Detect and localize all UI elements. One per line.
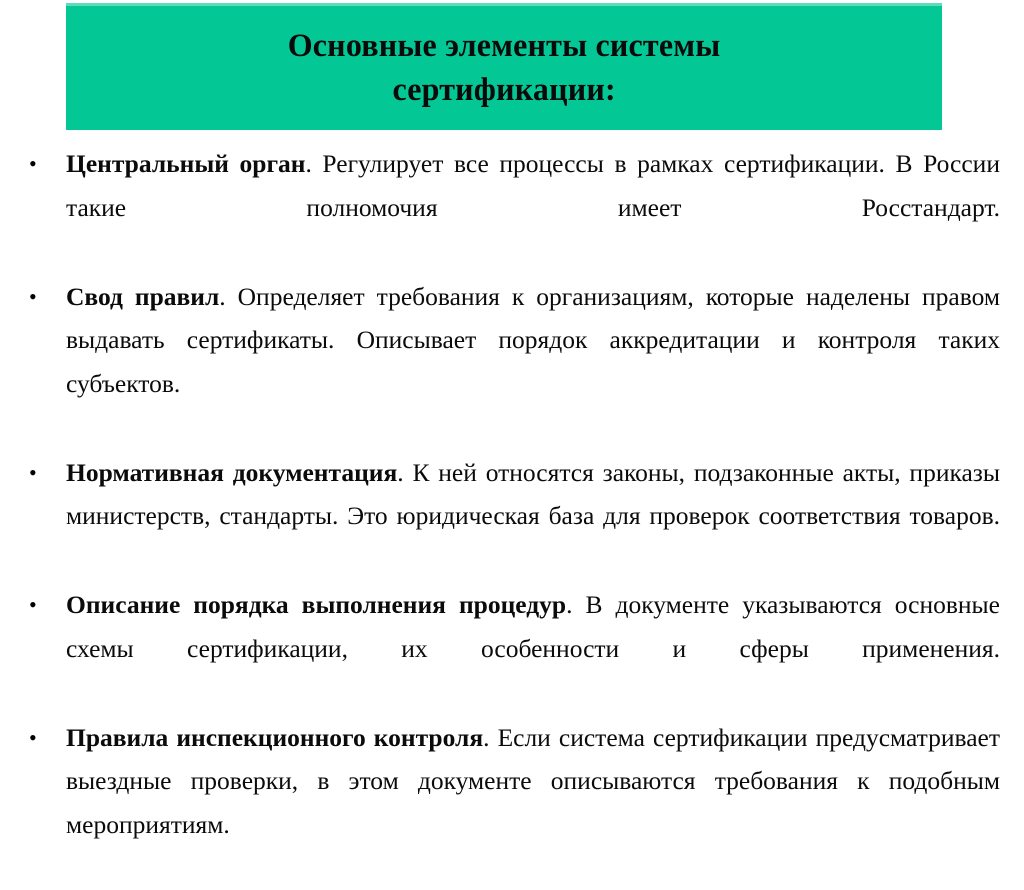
bullet-marker-icon: • [29, 451, 43, 495]
bullet-marker-icon: • [29, 716, 43, 760]
bullet-lead-label: Правила инспекционного контроля [66, 723, 483, 752]
bullet-item-rules-code: •Свод правил. Определяет требования к ор… [0, 275, 1024, 449]
bullet-list: •Центральный орган. Регулирует все проце… [0, 142, 1024, 890]
slide-title-line-1: Основные элементы системы [288, 24, 721, 68]
bullet-marker-icon: • [29, 275, 43, 319]
bullet-marker-icon: • [29, 142, 43, 186]
bullet-lead-label: Центральный орган [66, 149, 305, 178]
bullet-marker-icon: • [29, 583, 43, 627]
title-banner: Основные элементы системы сертификации: [66, 3, 942, 130]
bullet-lead-label: Нормативная документация [66, 458, 397, 487]
bullet-lead-label: Свод правил [66, 282, 219, 311]
slide-title-line-2: сертификации: [392, 68, 615, 112]
bullet-item-procedure-description: •Описание порядка выполнения процедур. В… [0, 583, 1024, 714]
bullet-item-central-authority: •Центральный орган. Регулирует все проце… [0, 142, 1024, 273]
bullet-item-normative-documentation: •Нормативная документация. К ней относят… [0, 451, 1024, 582]
bullet-lead-label: Описание порядка выполнения процедур [66, 590, 566, 619]
slide-canvas: Основные элементы системы сертификации: … [0, 0, 1024, 767]
bullet-item-inspection-control-rules: •Правила инспекционного контроля. Если с… [0, 716, 1024, 890]
